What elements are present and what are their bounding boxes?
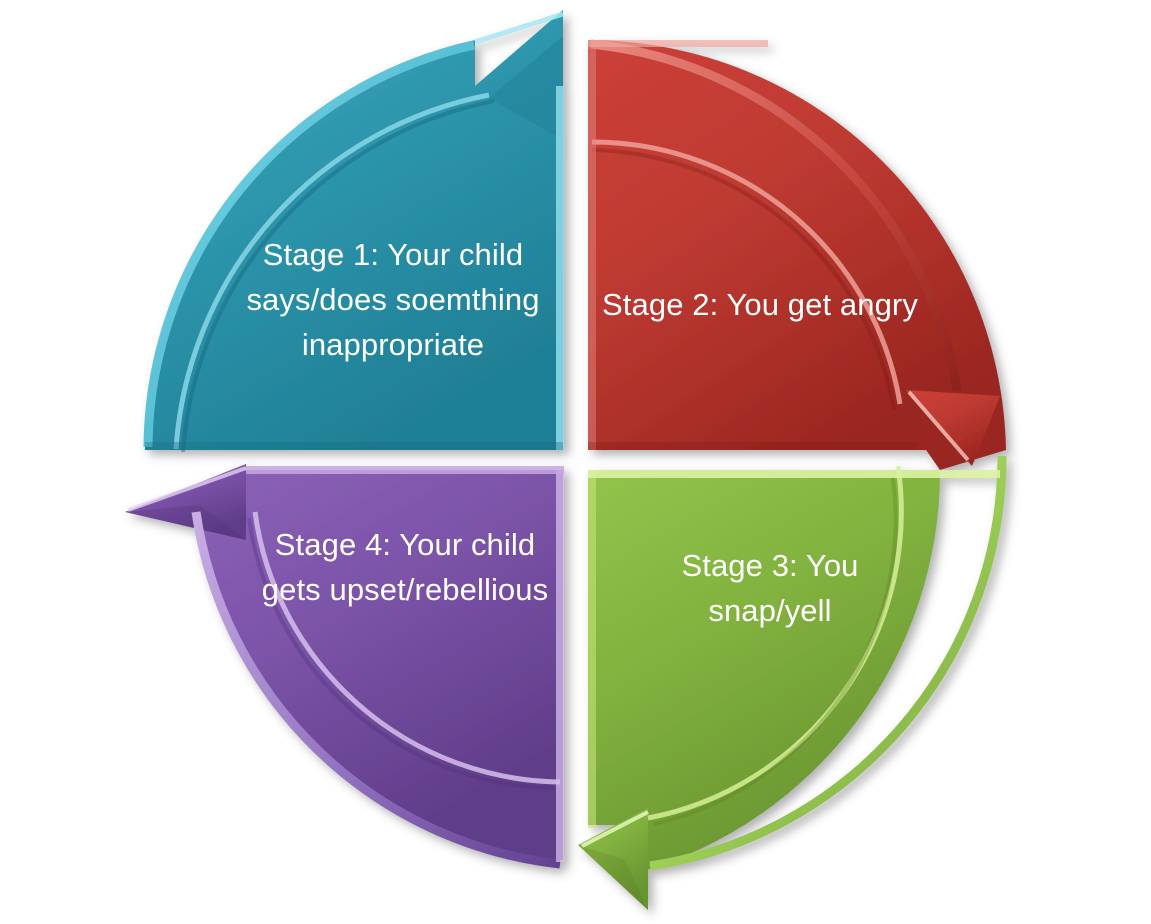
stage-1-right-bevel <box>556 86 564 450</box>
stage-3-quadrant[interactable] <box>578 456 1002 910</box>
cycle-diagram-svg <box>0 0 1151 924</box>
stage-3-left-bevel <box>588 470 596 828</box>
cycle-diagram: Stage 1: Your child says/does soemthing … <box>0 0 1151 924</box>
stage-1-bottom-bevel <box>145 442 563 450</box>
stage-2-left-bevel <box>588 40 596 450</box>
stage-3-body-main[interactable] <box>588 470 940 872</box>
stage-2-top-bevel <box>588 40 768 47</box>
stage-2-bottom-bevel <box>588 442 918 450</box>
stage-2-quadrant[interactable] <box>588 40 1006 470</box>
stage-4-right-bevel <box>556 470 564 862</box>
stage-3-top-bevel <box>588 470 1000 478</box>
stage-4-quadrant[interactable] <box>125 464 564 864</box>
stage-1-quadrant[interactable] <box>145 10 564 452</box>
stage-4-top-bevel <box>246 466 564 474</box>
